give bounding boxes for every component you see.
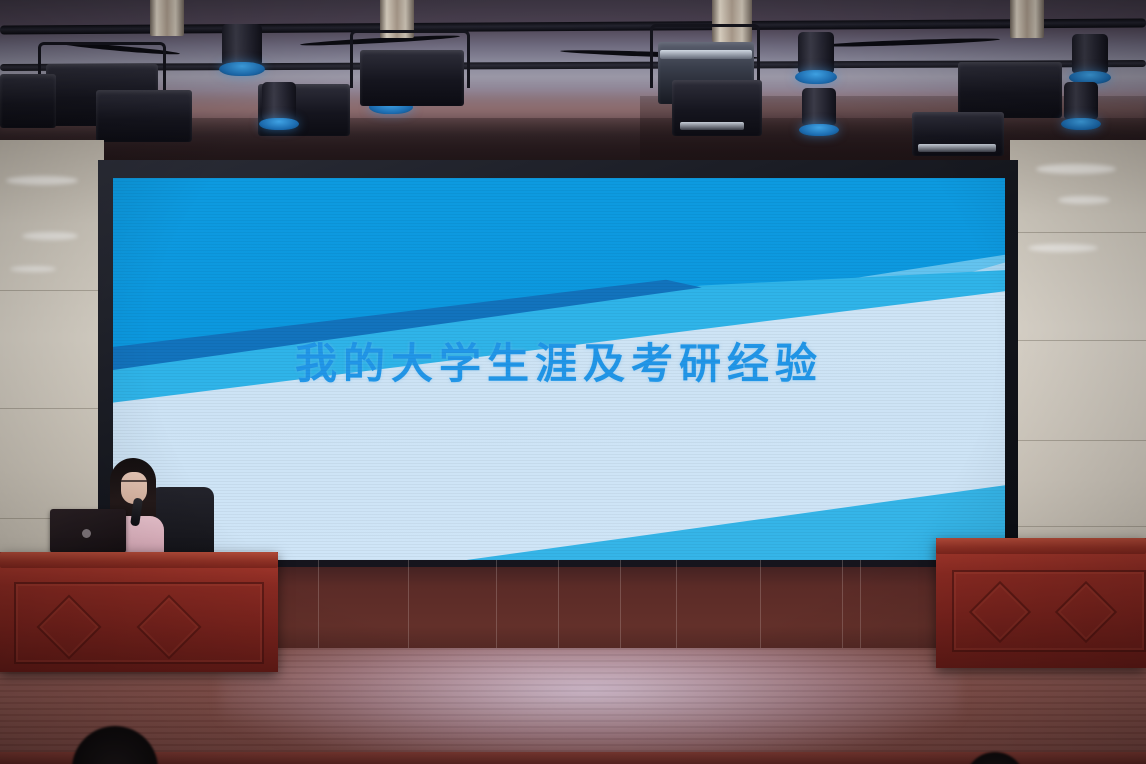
- par-body: [262, 82, 296, 119]
- par-body: [222, 24, 262, 65]
- par-can-icon-6: [1072, 34, 1108, 84]
- lamp-shine: [918, 144, 996, 152]
- par-body: [1072, 34, 1108, 73]
- ceiling: [0, 0, 1146, 175]
- wall-seam: [0, 408, 104, 409]
- lamp-bulb-1: [150, 0, 184, 36]
- par-body: [798, 32, 834, 73]
- wall-seam: [0, 290, 104, 291]
- par-body: [1064, 82, 1098, 119]
- lamp-body: [360, 50, 464, 106]
- wall-glare: [1036, 164, 1116, 174]
- wall-glare: [22, 232, 78, 240]
- wall-seam: [1010, 340, 1146, 341]
- spotlight-icon-4: [350, 30, 470, 88]
- lamp-body: [958, 62, 1062, 118]
- spotlight-icon-9: [0, 74, 56, 128]
- speaker-desk-left: [0, 552, 278, 672]
- wall-seam: [1010, 232, 1146, 233]
- wall-glare: [1028, 244, 1098, 252]
- lamp-body: [96, 90, 192, 142]
- par-can-icon-5: [802, 88, 836, 136]
- par-can-icon-2: [262, 82, 296, 130]
- par-lens: [799, 124, 839, 136]
- spotlight-icon-8: [912, 112, 1004, 156]
- lamp-shine: [680, 122, 744, 130]
- desk-top-edge: [936, 538, 1146, 554]
- cable-4: [820, 37, 1000, 48]
- par-lens: [1061, 118, 1101, 130]
- spotlight-icon-5: [650, 24, 760, 88]
- laptop-logo: [82, 529, 91, 538]
- par-lens: [219, 62, 265, 76]
- laptop-icon: [50, 509, 126, 553]
- par-body: [802, 88, 836, 125]
- par-can-icon-7: [1064, 82, 1098, 130]
- led-screen[interactable]: 我的大学生涯及考研经验: [113, 178, 1005, 562]
- podium-desk-right: [936, 538, 1146, 668]
- wall-glare: [10, 266, 56, 272]
- wall-glare: [6, 176, 78, 185]
- lamp-bulb-4: [1010, 0, 1044, 38]
- slide-title: 我的大学生涯及考研经验: [113, 330, 1005, 391]
- wall-glare: [1058, 196, 1110, 204]
- wall-seam: [1010, 440, 1146, 441]
- lamp-body: [0, 74, 56, 128]
- auditorium-scene: 我的大学生涯及考研经验: [0, 0, 1146, 764]
- spotlight-icon-6: [672, 80, 762, 136]
- par-lens: [259, 118, 299, 130]
- glasses-icon: [121, 480, 147, 488]
- desk-top-edge: [0, 552, 278, 568]
- par-can-icon-4: [798, 32, 834, 84]
- spotlight-icon-7: [958, 62, 1062, 118]
- spotlight-icon-2: [96, 90, 192, 142]
- par-can-icon-1: [222, 24, 262, 76]
- lamp-shine: [660, 50, 752, 59]
- par-lens: [795, 70, 837, 84]
- wall-seam: [1010, 526, 1146, 527]
